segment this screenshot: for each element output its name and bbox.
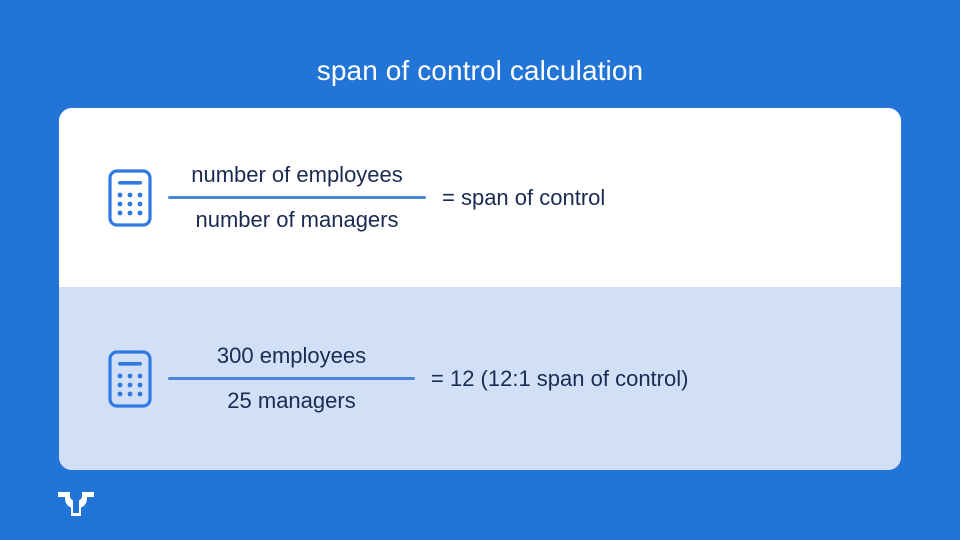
fraction-denominator: number of managers — [190, 205, 405, 235]
formula-card: number of employees number of managers =… — [59, 108, 901, 470]
formula-row-generic: number of employees number of managers =… — [59, 108, 901, 287]
fraction-example: 300 employees 25 managers — [168, 341, 415, 416]
fraction-bar — [168, 377, 415, 380]
fraction-numerator: number of employees — [185, 160, 409, 190]
fraction-denominator: 25 managers — [221, 386, 361, 416]
fraction-bar — [168, 196, 426, 199]
formula-row-example: 300 employees 25 managers = 12 (12:1 spa… — [59, 287, 901, 470]
brand-logo-mark — [56, 488, 96, 516]
calculator-icon — [106, 349, 154, 409]
calculator-icon — [106, 168, 154, 228]
formula-result-generic: = span of control — [442, 183, 605, 213]
fraction-numerator: 300 employees — [211, 341, 372, 371]
fraction-generic: number of employees number of managers — [168, 160, 426, 235]
page-title: span of control calculation — [0, 54, 960, 88]
formula-result-example: = 12 (12:1 span of control) — [431, 364, 688, 394]
